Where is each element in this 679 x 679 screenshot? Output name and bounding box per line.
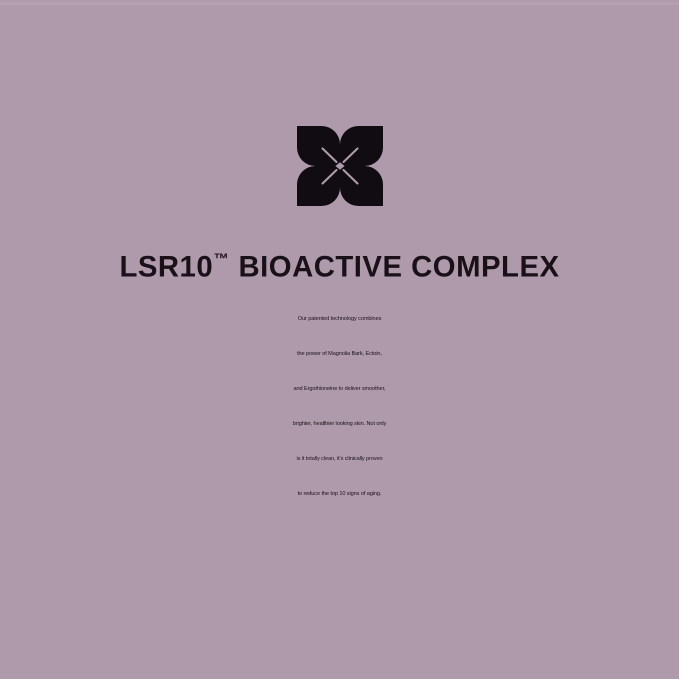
body-line: is it totally clean, it’s clinically pro… [30,442,650,477]
body-line: Our patented technology combines [30,302,650,337]
page-title: LSR10™ BIOACTIVE COMPLEX [119,252,559,282]
product-claim-card: LSR10™ BIOACTIVE COMPLEX Our patented te… [0,0,679,679]
top-edge-hairline [0,2,679,5]
body-line: the power of Magnolia Bark, Ectoin, [30,337,650,372]
quatrefoil-x-logo-icon [297,126,383,206]
body-copy: Our patented technology combines the pow… [30,302,650,512]
page-title-suffix: BIOACTIVE COMPLEX [230,250,560,283]
page-title-prefix: LSR10 [119,250,213,283]
body-line: and Ergothioneine to deliver smoother, [30,372,650,407]
trademark-symbol: ™ [214,251,229,268]
body-line: brighter, healthier looking skin. Not on… [30,407,650,442]
body-line: to reduce the top 10 signs of aging. [30,477,650,512]
